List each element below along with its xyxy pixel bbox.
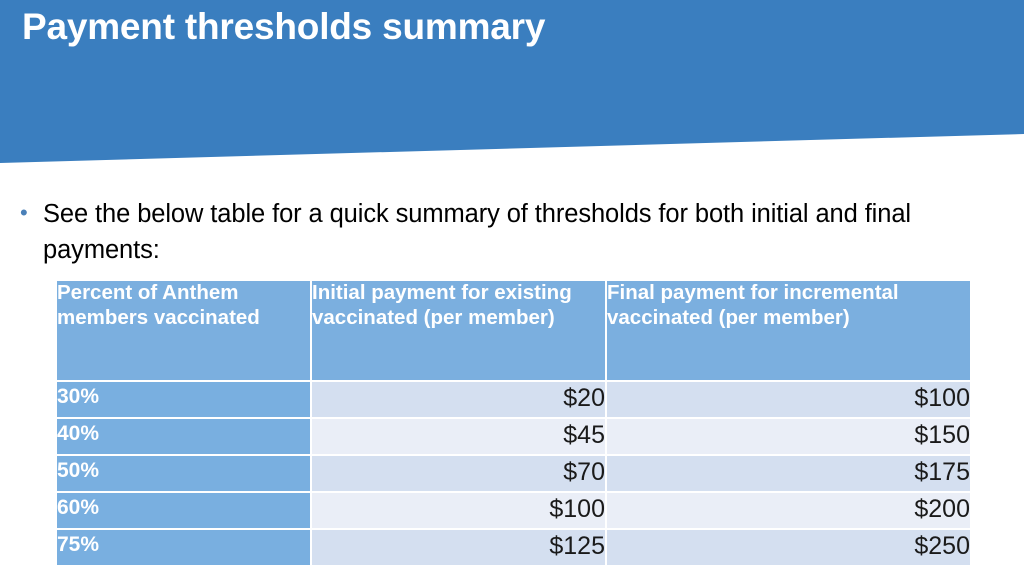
page-title: Payment thresholds summary: [22, 6, 545, 48]
cell-initial-payment: $125: [312, 530, 605, 565]
bullet-list: • See the below table for a quick summar…: [14, 196, 1019, 268]
column-header-percent: Percent of Anthem members vaccinated: [57, 281, 310, 380]
cell-final-payment: $250: [607, 530, 970, 565]
list-item: • See the below table for a quick summar…: [14, 196, 1019, 268]
column-header-final-payment: Final payment for incremental vaccinated…: [607, 281, 970, 380]
cell-initial-payment: $70: [312, 456, 605, 491]
cell-percent: 75%: [57, 530, 310, 565]
cell-percent: 50%: [57, 456, 310, 491]
cell-final-payment: $150: [607, 419, 970, 454]
bullet-point-icon: •: [14, 196, 43, 230]
table-row: 60% $100 $200: [57, 493, 970, 528]
cell-final-payment: $200: [607, 493, 970, 528]
table-body: 30% $20 $100 40% $45 $150 50% $70 $175 6…: [57, 382, 970, 565]
cell-final-payment: $175: [607, 456, 970, 491]
cell-percent: 30%: [57, 382, 310, 417]
cell-final-payment: $100: [607, 382, 970, 417]
table-header-row: Percent of Anthem members vaccinated Ini…: [57, 281, 970, 380]
column-header-initial-payment: Initial payment for existing vaccinated …: [312, 281, 605, 380]
payment-thresholds-table: Percent of Anthem members vaccinated Ini…: [55, 279, 972, 567]
cell-percent: 60%: [57, 493, 310, 528]
table-row: 40% $45 $150: [57, 419, 970, 454]
table-row: 50% $70 $175: [57, 456, 970, 491]
table-header: Percent of Anthem members vaccinated Ini…: [57, 281, 970, 380]
cell-initial-payment: $20: [312, 382, 605, 417]
table-row: 30% $20 $100: [57, 382, 970, 417]
table-row: 75% $125 $250: [57, 530, 970, 565]
cell-percent: 40%: [57, 419, 310, 454]
cell-initial-payment: $45: [312, 419, 605, 454]
cell-initial-payment: $100: [312, 493, 605, 528]
bullet-item-label: See the below table for a quick summary …: [43, 196, 1019, 268]
